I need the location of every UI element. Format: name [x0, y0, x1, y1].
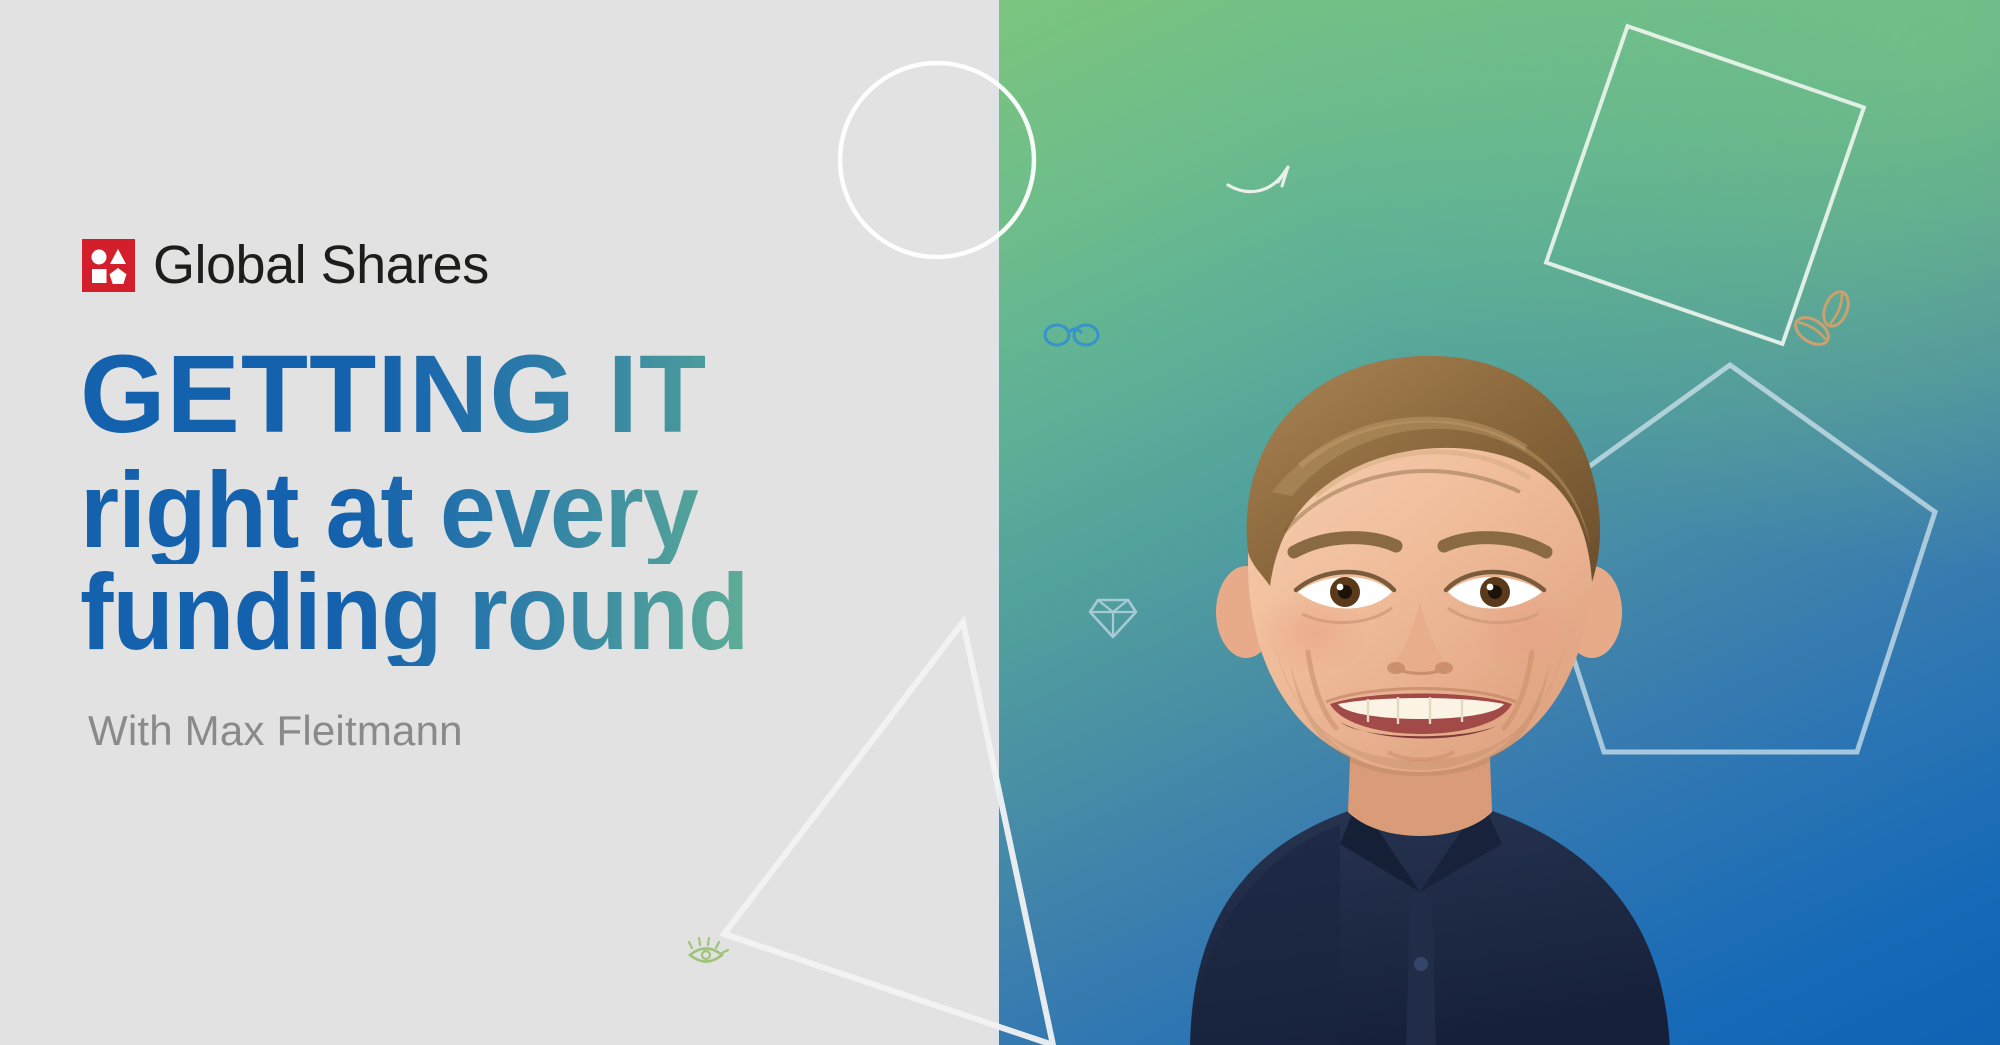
headline-line-3: funding round — [80, 558, 880, 666]
headline-line-2: right at every — [80, 456, 880, 564]
left-text-panel: Global Shares GETTING IT right at every … — [0, 0, 998, 1045]
global-shares-logo-icon — [82, 239, 135, 292]
subtitle-guest-name: With Max Fleitmann — [88, 707, 463, 755]
page-title: GETTING IT right at every funding round — [80, 340, 940, 666]
brand-logo[interactable]: Global Shares — [82, 238, 489, 292]
shirt — [1190, 800, 1670, 1045]
avatar — [1040, 252, 1800, 1045]
brand-wordmark: Global Shares — [153, 238, 489, 292]
podcast-promo-banner: Global Shares GETTING IT right at every … — [0, 0, 2000, 1045]
headline-line-1: GETTING IT — [80, 340, 940, 450]
max-fleitmann-portrait — [1040, 252, 1800, 1045]
logo-circle-shape — [92, 249, 107, 264]
logo-square-shape — [92, 269, 107, 283]
